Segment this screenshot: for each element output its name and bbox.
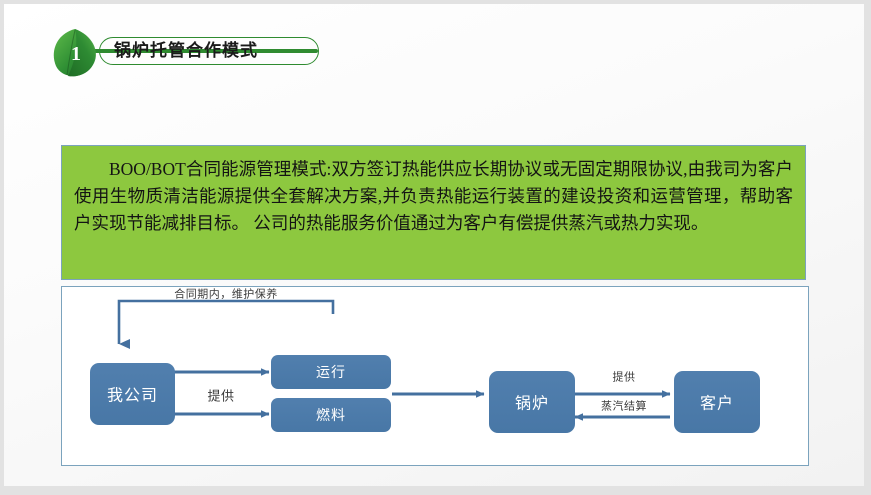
diagram-panel: 合同期内，维护保养 提供 提供 蒸汽结算 我公司 运行 [61, 286, 809, 466]
node-label-customer: 客户 [700, 394, 734, 413]
edge-label-settle: 蒸汽结算 [601, 399, 647, 413]
edge-label-maintenance: 合同期内，维护保养 [174, 287, 278, 301]
node-label-fuel: 燃料 [316, 407, 346, 424]
description-text: BOO/BOT合同能源管理模式:双方签订热能供应长期协议或无固定期限协议,由我司… [74, 156, 793, 237]
flow-diagram: 合同期内，维护保养 提供 提供 蒸汽结算 我公司 运行 [62, 287, 808, 465]
node-label-company: 我公司 [107, 386, 158, 405]
edge-maintenance [119, 301, 333, 344]
edge-label-provide: 提供 [207, 389, 234, 405]
node-company[interactable]: 我公司 [90, 363, 175, 425]
edge-label-supply: 提供 [613, 370, 636, 384]
slide-canvas: 1 锅炉托管合作模式 BOO/BOT合同能源管理模式:双方签订热能供应长期协议或… [4, 4, 864, 486]
description-panel: BOO/BOT合同能源管理模式:双方签订热能供应长期协议或无固定期限协议,由我司… [61, 145, 806, 280]
leaf-icon: 1 [48, 28, 104, 78]
node-label-boiler: 锅炉 [515, 394, 549, 413]
node-operate[interactable]: 运行 [271, 355, 391, 389]
node-customer[interactable]: 客户 [674, 371, 760, 433]
page-title: 锅炉托管合作模式 [114, 39, 314, 63]
slide-number: 1 [48, 28, 104, 78]
node-fuel[interactable]: 燃料 [271, 398, 391, 432]
node-label-operate: 运行 [316, 365, 346, 381]
slide-title-block: 1 锅炉托管合作模式 [48, 28, 318, 78]
node-boiler[interactable]: 锅炉 [489, 371, 575, 433]
